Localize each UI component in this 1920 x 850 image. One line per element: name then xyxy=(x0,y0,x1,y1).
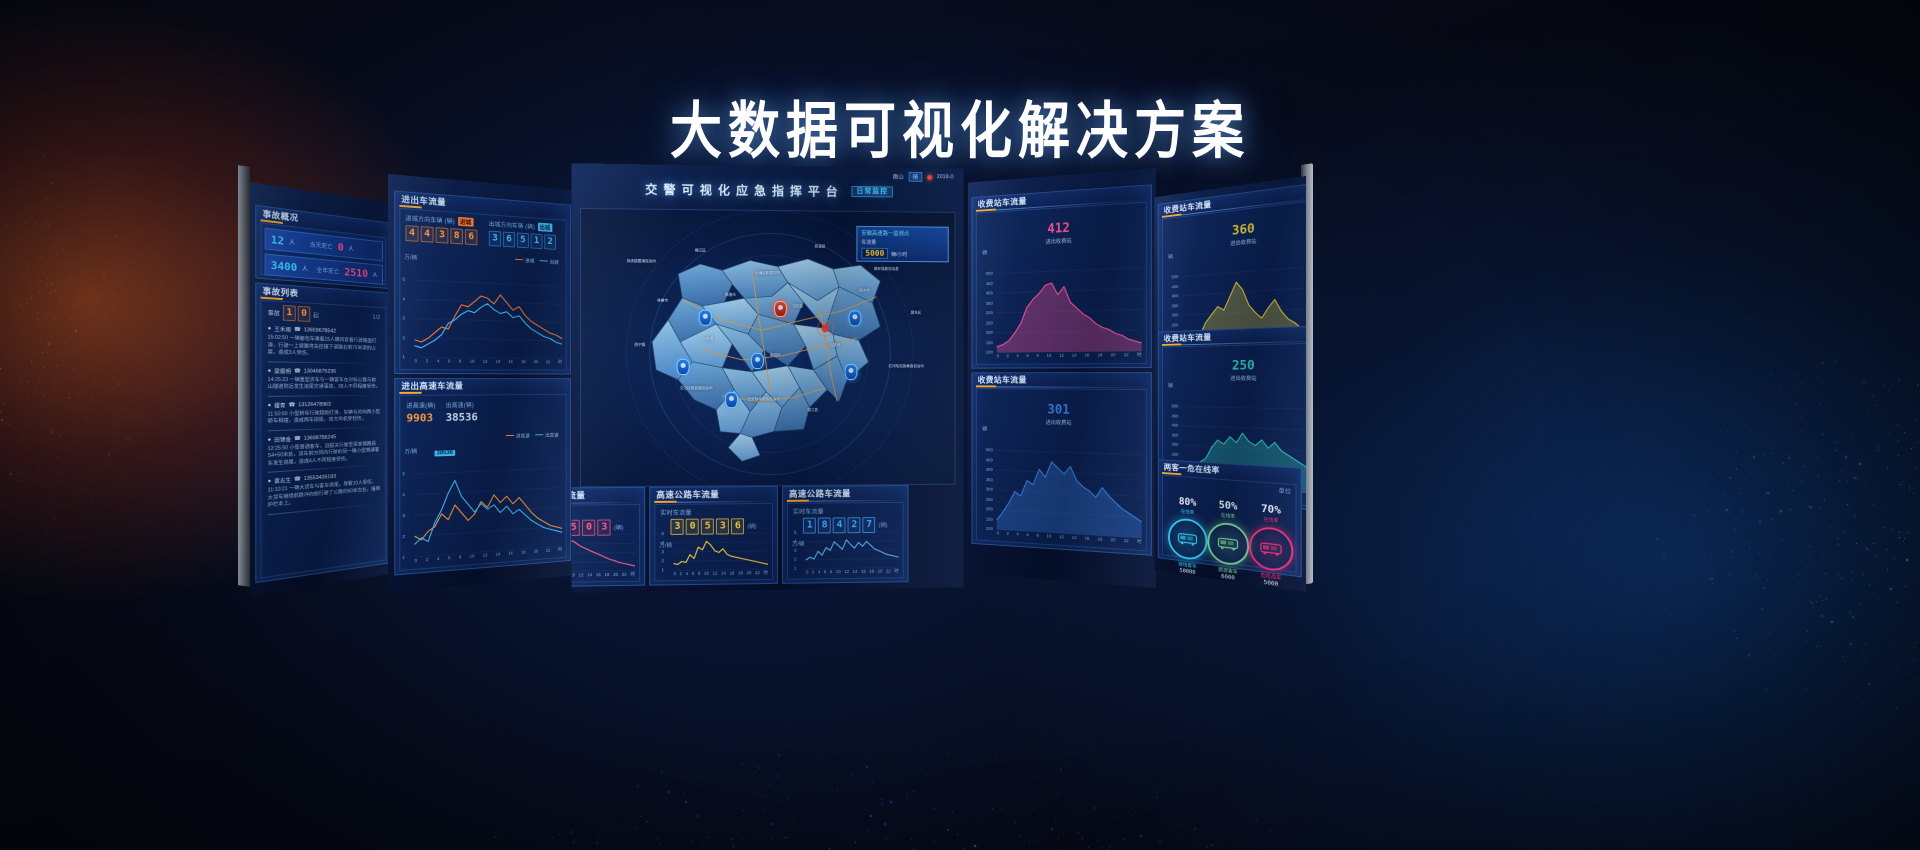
chart-x-tick: 10 xyxy=(836,569,841,575)
chart-y-tick: 450 xyxy=(986,282,993,287)
column-toll-right: 收费站车流量 360 进出收费站 辆 500450400350300250200… xyxy=(1154,176,1306,592)
chart-y-tick: 300 xyxy=(1172,443,1179,448)
coach-icon xyxy=(1207,521,1249,568)
chart-x-tick: 10 xyxy=(470,553,475,559)
chart-x-tick: 22 xyxy=(755,570,760,576)
card-online-rate: 两客一危在线率 单位 80% 在线率 班线客车 50000 50% 在线率 xyxy=(1158,459,1302,577)
chart-x-tick: 0 xyxy=(674,571,676,577)
chart-y-tick: 300 xyxy=(986,488,993,493)
chart-x-tick: 18 xyxy=(604,572,609,578)
accident-text: 12:25:50 小型普通客车，沿韶关行驶至梁家镇路段S4+50米处，该车前方同… xyxy=(268,441,381,469)
chart-x-tick: 20 xyxy=(1111,352,1116,358)
chart-x-tick: 0 xyxy=(997,530,999,536)
gauge[interactable]: 70% 在线率 危险品车 5000 xyxy=(1249,501,1293,590)
accident-item[interactable]: ● 樓青 ☎ 13126478963 11:50:50 小型轿车行驶超前打滑，车… xyxy=(268,400,381,426)
chart-y-tick: 4 xyxy=(661,541,664,546)
chart-y-tick: 200 xyxy=(986,331,993,335)
accident-person-name: 梁振明 xyxy=(274,367,291,375)
chart-svg xyxy=(997,268,1142,353)
accident-person-name: 黄志生 xyxy=(274,476,291,485)
chart-x-tick: 18 xyxy=(521,359,525,365)
highway-flow-sub: 实时车流量 xyxy=(655,504,772,517)
chart-x-tick: 16 xyxy=(730,570,735,576)
chart-x-tick: 18 xyxy=(738,570,743,576)
chart-x-tick: 2 xyxy=(426,358,428,364)
accident-text: 11:50:50 小型轿车行驶超前打滑，车辆与对向两小型轿车相撞，造成两车损毁，… xyxy=(268,409,381,426)
map-region-label: 南容市 xyxy=(770,353,781,358)
digit-cell: 3 xyxy=(716,518,729,534)
chart-x-tick: 16 xyxy=(596,572,601,578)
chart-x-unit: 时 xyxy=(558,360,562,366)
chart-x-tick: 2 xyxy=(680,571,682,577)
chart-x-tick: 18 xyxy=(869,569,874,575)
chart-x-unit: 时 xyxy=(763,570,767,576)
chart-y-tick: 100 xyxy=(986,351,993,355)
card-entry-exit-flow: 进出车流量 进城方向车辆 (辆) 进城 44386 出城方向车辆 ( xyxy=(394,190,571,374)
toll-wave-indicator: 250 进出收费站 xyxy=(1230,359,1256,382)
digit-cell: 3 xyxy=(489,231,501,247)
chart-y-tick: 2 xyxy=(402,336,405,341)
chart-x-unit: 时 xyxy=(630,572,634,578)
toll-sub: 进出收费站 xyxy=(1230,237,1256,247)
person-icon: ● xyxy=(268,326,271,332)
map-region-label: 梅江区 xyxy=(695,249,706,254)
card-accident-list: 事故列表 事故 10 起 1/2 ● 王禾雨 ☎ 13659678542 15:… xyxy=(255,282,390,583)
chart-x-tick: 4 xyxy=(818,569,820,575)
chart-x-tick: 14 xyxy=(853,569,858,575)
digit-cell: 5 xyxy=(517,232,529,248)
accident-count-unit: 起 xyxy=(313,310,319,319)
chart-x-unit: 时 xyxy=(1137,352,1141,358)
year-death-unit: 人 xyxy=(372,270,377,279)
entry-exit-legend: 进城 出城 xyxy=(515,257,559,266)
accident-item[interactable]: ● 梁振明 ☎ 13046875236 14:25:23 一辆重型货车与一辆客车… xyxy=(268,367,381,392)
year-death-label: 全年死亡 xyxy=(317,265,340,276)
digit-cell: 1 xyxy=(283,305,296,321)
highway-flow-title: 高速公路车流量 xyxy=(650,487,777,502)
entry-exit-chart: 543210246810121416182022时 xyxy=(415,280,563,359)
chart-y-tick: 1 xyxy=(402,355,405,360)
chart-x-tick: 4 xyxy=(437,556,439,562)
accident-phone: 13659678542 xyxy=(304,327,336,334)
chart-x-tick: 10 xyxy=(704,571,709,577)
chart-x-tick: 6 xyxy=(448,555,450,561)
digit-cell: 6 xyxy=(731,518,744,534)
chart-x-tick: 4 xyxy=(1016,532,1018,538)
chart-y-tick: 500 xyxy=(1172,275,1179,280)
highway-flow-unit: (辆) xyxy=(879,521,888,529)
year-accident-value: 3400 xyxy=(271,258,297,273)
map-tooltip-title: 安徽高速路一监测点 xyxy=(861,229,943,238)
map-region-label: 南宁市 xyxy=(859,288,870,293)
chart-y-tick: 4 xyxy=(794,540,797,545)
highway-in-out-title: 进出高速车流量 xyxy=(395,379,570,393)
digit-cell: 3 xyxy=(598,519,611,535)
chart-x-tick: 12 xyxy=(579,572,584,578)
accident-list-body: 事故 10 起 1/2 ● 王禾雨 ☎ 13659678542 15:02:50… xyxy=(260,300,386,579)
accident-phone: 13698756245 xyxy=(304,434,336,441)
chart-y-tick: 400 xyxy=(1172,424,1179,428)
toll-y-unit: 辆 xyxy=(982,249,987,257)
accident-time: 11:10:21 xyxy=(268,486,288,493)
gauge[interactable]: 80% 在线率 班线客车 50000 xyxy=(1168,494,1207,578)
chart-x-tick: 16 xyxy=(508,359,513,365)
map-region-label: 西双版纳傣族自治州 xyxy=(748,397,780,402)
chart-svg xyxy=(415,280,563,359)
toll-body: 301 进出收费站 辆 5004504003503002502001501000… xyxy=(976,388,1147,551)
chart-x-tick: 14 xyxy=(721,571,726,577)
chart-x-tick: 8 xyxy=(830,569,832,575)
chart-x-tick: 4 xyxy=(437,358,439,364)
toll-wave-indicator: 360 进出收费站 xyxy=(1230,222,1256,248)
chart-y-tick: 400 xyxy=(986,468,993,473)
exit-tag: 出城 xyxy=(538,223,552,232)
toll-value: 250 xyxy=(1230,359,1256,374)
chart-y-tick: 150 xyxy=(986,517,993,522)
chart-y-tick: 5 xyxy=(794,531,797,536)
map-container[interactable]: 安徽高速路一监测点 车流量 5000 辆/小时 凤庆镇霞浦自治州梅江区大塘区新嘉… xyxy=(580,208,956,487)
chart-x-tick: 14 xyxy=(496,359,501,365)
chart-svg xyxy=(415,468,563,557)
chart-y-tick: 250 xyxy=(986,497,993,502)
highway-flow-sub: 实时车流量 xyxy=(572,505,639,518)
digit-cell: 2 xyxy=(848,517,861,533)
chart-x-tick: 0 xyxy=(415,358,417,364)
map-tooltip-value: 5000 xyxy=(861,248,888,259)
chart-x-tick: 16 xyxy=(861,569,866,575)
chart-y-tick: 450 xyxy=(986,458,993,463)
year-death-value: 2510 xyxy=(344,265,368,279)
chart-x-tick: 16 xyxy=(508,551,513,557)
toll-y-unit: 辆 xyxy=(982,425,987,433)
chart-y-tick: 150 xyxy=(986,341,993,345)
accident-item-header: ● 梁振明 ☎ 13046875236 xyxy=(268,367,381,376)
highway-peak-marker: 38536 xyxy=(435,450,455,456)
highway-in-out-chart: 543210246810121416182022时 xyxy=(415,468,563,557)
today-accident-value: 12 xyxy=(271,233,284,247)
person-icon: ● xyxy=(268,437,271,443)
map-region-label: 都安瑶族自治县 xyxy=(874,267,899,272)
accident-phone: 13046875236 xyxy=(304,368,336,374)
phone-icon: ☎ xyxy=(294,327,301,333)
highway-flow-title: 高速公路车流量 xyxy=(572,488,644,503)
card-toll-station: 收费站车流量 301 进出收费站 辆 500450400350300250200… xyxy=(971,372,1151,556)
column-accidents: 事故概况 12 人 当天死亡 0 人 3400 人 全年死亡 2510 人 xyxy=(250,182,393,596)
map-tooltip: 安徽高速路一监测点 车流量 5000 辆/小时 xyxy=(856,226,948,262)
toll-y-unit: 辆 xyxy=(1168,253,1173,261)
chart-y-tick: 300 xyxy=(986,311,993,315)
chart-y-tick: 350 xyxy=(1172,304,1179,309)
chart-x-tick: 6 xyxy=(448,359,450,365)
chart-x-tick: 0 xyxy=(997,353,999,359)
chart-y-tick: 100 xyxy=(986,527,993,532)
highway-flow-chart: 543210246810121416182022时 xyxy=(674,533,768,570)
chart-y-tick: 1 xyxy=(794,567,797,572)
chart-x-unit: 时 xyxy=(558,547,562,553)
map-pin-2[interactable] xyxy=(848,310,861,326)
map-pin-1[interactable] xyxy=(699,309,712,325)
chart-x-tick: 2 xyxy=(1007,353,1009,359)
highway-out-value: 38536 xyxy=(446,411,478,424)
exit-label: 出城方向车辆 (辆) xyxy=(489,219,535,231)
chart-x-tick: 10 xyxy=(1047,533,1052,539)
map-tooltip-unit: 辆/小时 xyxy=(891,251,907,258)
chart-y-tick: 3 xyxy=(402,514,405,519)
map-pin-5[interactable] xyxy=(725,392,738,408)
exit-digits: 36512 xyxy=(489,231,561,251)
chart-x-tick: 14 xyxy=(1072,535,1077,541)
hazard-truck-icon xyxy=(1249,525,1293,573)
map-region-label: 林峰市 xyxy=(657,298,668,303)
toll-sub: 进出收费站 xyxy=(1046,237,1072,246)
chart-x-tick: 2 xyxy=(1007,531,1009,537)
chart-x-tick: 20 xyxy=(613,572,618,578)
highway-flow-body: 实时车流量 42503 (辆) 万/辆 54321002468101214161… xyxy=(572,504,640,583)
digit-cell: 6 xyxy=(503,232,515,248)
highway-in-label: 进高速(辆) xyxy=(406,401,435,410)
phone-icon: ☎ xyxy=(288,402,295,408)
highway-in-out-legend: 进高速 出高速 xyxy=(506,432,559,440)
accident-time: 15:02:50 xyxy=(268,335,288,342)
chart-x-tick: 22 xyxy=(886,569,891,575)
chart-y-tick: 400 xyxy=(1172,294,1179,299)
accident-text: 14:25:23 一辆重型货车与一辆客车在对标公路与前山隧道附近发生追尾交通事故… xyxy=(268,377,381,392)
chart-y-tick: 450 xyxy=(1172,285,1179,290)
person-icon: ● xyxy=(268,368,271,374)
chart-y-tick: 350 xyxy=(1172,433,1179,437)
chart-x-tick: 20 xyxy=(534,549,538,555)
divider xyxy=(268,361,381,364)
entry-tag: 进城 xyxy=(458,217,473,227)
map-region-label: 红河哈尼族彝族自治州 xyxy=(889,365,924,370)
map-pin-3[interactable] xyxy=(676,359,689,375)
today-death-unit: 人 xyxy=(348,244,353,253)
chart-x-tick: 4 xyxy=(686,571,688,577)
chart-x-tick: 22 xyxy=(1124,352,1129,358)
highway-y-unit: 万/辆 xyxy=(404,447,417,455)
column-flow-left: 进出车流量 进城方向车辆 (辆) 进城 44386 出城方向车辆 ( xyxy=(388,174,574,592)
chart-x-tick: 22 xyxy=(622,572,627,578)
accident-person-name: 田锦金 xyxy=(274,435,291,444)
chart-y-tick: 250 xyxy=(1172,452,1179,457)
chart-y-tick: 3 xyxy=(402,316,405,321)
chart-x-tick: 18 xyxy=(1098,536,1103,542)
chart-x-tick: 12 xyxy=(483,552,488,558)
chart-x-tick: 8 xyxy=(1036,533,1038,539)
dashboard-header-badge[interactable]: 日常监控 xyxy=(851,186,892,197)
chart-y-tick: 5 xyxy=(661,532,664,537)
topbar-weather: 晴 xyxy=(909,172,922,182)
chart-x-tick: 22 xyxy=(546,359,550,365)
chart-x-tick: 0 xyxy=(415,558,417,564)
accident-phone: 13553426193 xyxy=(304,474,336,482)
chart-x-tick: 8 xyxy=(459,359,461,365)
accident-list-page[interactable]: 1/2 xyxy=(373,315,381,321)
chart-y-tick: 450 xyxy=(1172,414,1179,418)
chart-svg xyxy=(572,534,635,571)
dashboard-header-title: 交警可视化应急指挥平台 xyxy=(645,182,843,198)
highway-flow-title: 高速公路车流量 xyxy=(783,486,908,501)
highway-in-out-body: 进高速(辆) 9903 出高速(辆) 38536 进高速 出高速 万/辆 385… xyxy=(399,394,566,571)
chart-x-tick: 20 xyxy=(1111,537,1116,543)
highway-flow-body: 实时车流量 30536 (辆) 万/辆 54321024681012141618… xyxy=(654,503,773,582)
accident-person-name: 王禾雨 xyxy=(274,325,291,334)
chart-y-tick: 200 xyxy=(986,507,993,512)
card-highway-flow: 高速公路车流量 实时车流量 30536 (辆) 万/辆 543210246810… xyxy=(649,486,778,586)
chart-y-tick: 350 xyxy=(986,478,993,483)
topbar-location: 南山 xyxy=(893,173,904,181)
highway-flow-chart: 5432100246810121416182022时 xyxy=(572,534,635,571)
digit-cell: 4 xyxy=(421,226,434,243)
digit-cell: 3 xyxy=(436,227,449,243)
chart-x-tick: 2 xyxy=(812,569,814,575)
chart-y-tick: 250 xyxy=(986,321,993,325)
map-region-label: 屏东区 xyxy=(911,310,922,315)
digit-cell: 0 xyxy=(686,519,699,535)
bus-icon xyxy=(1168,517,1207,562)
chart-x-tick: 6 xyxy=(1026,532,1028,538)
column-center: 南山 晴 2018-0 交警可视化应急指挥平台日常监控 xyxy=(572,163,964,592)
digit-cell: 1 xyxy=(803,518,816,534)
chart-x-tick: 6 xyxy=(692,571,694,577)
chart-x-tick: 6 xyxy=(1026,353,1028,359)
accident-item[interactable]: ● 王禾雨 ☎ 13659678542 15:02:50 一辆面包车乘载15人横… xyxy=(268,325,381,359)
highway-flow-unit: (辆) xyxy=(747,522,756,530)
chart-x-tick: 8 xyxy=(1036,353,1038,359)
chart-y-tick: 3 xyxy=(661,550,664,555)
chart-y-tick: 500 xyxy=(986,448,993,453)
chart-y-tick: 500 xyxy=(1172,405,1179,409)
card-highway-in-out: 进出高速车流量 进高速(辆) 9903 出高速(辆) 38536 进高速 xyxy=(394,378,571,575)
chart-svg xyxy=(674,533,768,570)
digit-cell: 6 xyxy=(465,229,477,245)
today-death-label: 当天死亡 xyxy=(310,239,333,250)
chart-x-tick: 8 xyxy=(459,554,461,560)
online-rate-gauges: 80% 在线率 班线客车 50000 50% 在线率 旅游客车 6000 xyxy=(1168,494,1289,567)
toll-wave-indicator: 301 进出收费站 xyxy=(1046,403,1072,427)
chart-x-tick: 14 xyxy=(1072,353,1077,359)
toll-wave-indicator: 412 进出收费站 xyxy=(1046,221,1072,246)
highway-flow-body: 实时车流量 18427 (辆) 万/辆 54321024681012141618… xyxy=(787,502,904,580)
chart-x-tick: 12 xyxy=(712,571,717,577)
chart-x-tick: 18 xyxy=(1098,352,1103,358)
chart-y-tick: 250 xyxy=(1172,323,1179,327)
map-region-label: 古田县 xyxy=(792,304,803,309)
highway-flow-sub: 实时车流量 xyxy=(788,503,903,516)
phone-icon: ☎ xyxy=(294,368,301,374)
chart-x-tick: 8 xyxy=(698,571,700,577)
chart-y-tick: 1 xyxy=(402,556,405,561)
online-rate-unit-note: 单位 xyxy=(1279,486,1292,496)
toll-chart: 5004504003503002502001501000246810121416… xyxy=(997,268,1142,353)
chart-x-tick: 10 xyxy=(470,359,475,365)
divider xyxy=(268,395,381,397)
toll-chart: 5004504003503002502001501000246810121416… xyxy=(997,450,1142,538)
chart-y-tick: 300 xyxy=(1172,313,1179,318)
chart-x-tick: 6 xyxy=(824,569,826,575)
accident-item[interactable]: ● 田锦金 ☎ 13698756245 12:25:50 小型普通客车，沿韶关行… xyxy=(268,432,381,469)
chart-x-tick: 12 xyxy=(483,359,488,365)
toll-value: 360 xyxy=(1230,222,1256,239)
map-pin-alert[interactable] xyxy=(774,301,787,317)
chart-x-tick: 12 xyxy=(1059,534,1064,540)
digit-cell: 4 xyxy=(833,517,846,533)
accident-items[interactable]: ● 王禾雨 ☎ 13659678542 15:02:50 一辆面包车乘载15人横… xyxy=(261,325,385,516)
chart-x-tick: 20 xyxy=(878,569,883,575)
map-region-label: 西宁镇 xyxy=(634,342,645,347)
chart-x-unit: 时 xyxy=(894,568,898,574)
chart-x-tick: 12 xyxy=(844,569,849,575)
digit-cell: 4 xyxy=(405,225,418,242)
chart-y-tick: 500 xyxy=(986,272,993,277)
page-title: 大数据可视化解决方案 xyxy=(0,81,1920,170)
divider xyxy=(268,426,381,431)
digit-cell: 8 xyxy=(818,517,831,533)
entry-digits: 44386 xyxy=(405,225,483,245)
year-accident-unit: 人 xyxy=(302,263,308,272)
gauge[interactable]: 50% 在线率 旅游客车 6000 xyxy=(1207,498,1249,584)
card-toll-station: 收费站车流量 412 进出收费站 辆 500450400350300250200… xyxy=(971,184,1151,368)
card-highway-flow: 高速公路车流量 实时车流量 42503 (辆) 万/辆 543210024681… xyxy=(572,487,645,588)
particle-field-right xyxy=(1340,300,1920,730)
chart-x-tick: 16 xyxy=(1085,536,1090,542)
chart-x-tick: 4 xyxy=(1016,353,1018,359)
person-icon: ● xyxy=(268,479,271,485)
toll-title: 收费站车流量 xyxy=(972,373,1151,387)
dashboard-topbar: 南山 晴 2018-0 xyxy=(893,172,954,183)
map-region-label: 榕江县 xyxy=(807,408,818,413)
toll-body: 412 进出收费站 辆 5004504003503002502001501000… xyxy=(976,202,1147,365)
map-region-label: 大塘区新嘉村村 xyxy=(755,271,780,276)
chart-y-tick: 350 xyxy=(986,301,993,306)
chart-x-tick: 20 xyxy=(534,359,538,365)
map-region-label: 凤庆镇霞浦自治州 xyxy=(627,259,656,264)
chart-x-tick: 10 xyxy=(1047,353,1052,359)
digit-cell: 5 xyxy=(701,519,714,535)
digit-cell: 0 xyxy=(298,306,311,322)
digit-cell: 5 xyxy=(572,520,581,536)
toll-value: 412 xyxy=(1046,221,1072,237)
chart-y-tick: 4 xyxy=(402,297,405,302)
chart-x-tick: 18 xyxy=(521,550,525,556)
accident-time: 14:25:23 xyxy=(268,377,288,383)
accident-person-name: 樓青 xyxy=(274,401,285,409)
accident-count-digits: 10 xyxy=(283,305,310,322)
chart-y-tick: 1 xyxy=(661,568,664,573)
map-region-label: 文山壮族苗族自治州 xyxy=(680,386,713,391)
toll-sub: 进出收费站 xyxy=(1046,418,1072,426)
digit-cell: 0 xyxy=(582,520,595,536)
digit-cell: 8 xyxy=(450,228,463,244)
card-highway-flow: 高速公路车流量 实时车流量 18427 (辆) 万/辆 543210246810… xyxy=(782,485,909,584)
chart-x-tick: 12 xyxy=(1059,353,1064,359)
accident-item-header: ● 樓青 ☎ 13126478963 xyxy=(268,400,381,409)
chart-svg xyxy=(997,450,1142,538)
map-region-label: 六安县 xyxy=(702,337,713,342)
chart-y-tick: 5 xyxy=(402,278,405,283)
map-pin-6[interactable] xyxy=(844,364,857,380)
chart-y-tick: 2 xyxy=(661,559,664,564)
highway-in-value: 9903 xyxy=(406,411,435,424)
column-toll-left: 收费站车流量 412 进出收费站 辆 500450400350300250200… xyxy=(968,168,1156,588)
person-icon: ● xyxy=(268,402,271,408)
chart-x-tick: 2 xyxy=(426,557,428,563)
map-region-label: 商洛市 xyxy=(725,293,736,298)
map-region-label: 新源县 xyxy=(815,244,826,249)
chart-x-tick: 10 xyxy=(572,572,575,578)
topbar-date: 2018-0 xyxy=(937,174,954,180)
chart-x-tick: 22 xyxy=(1124,538,1129,544)
